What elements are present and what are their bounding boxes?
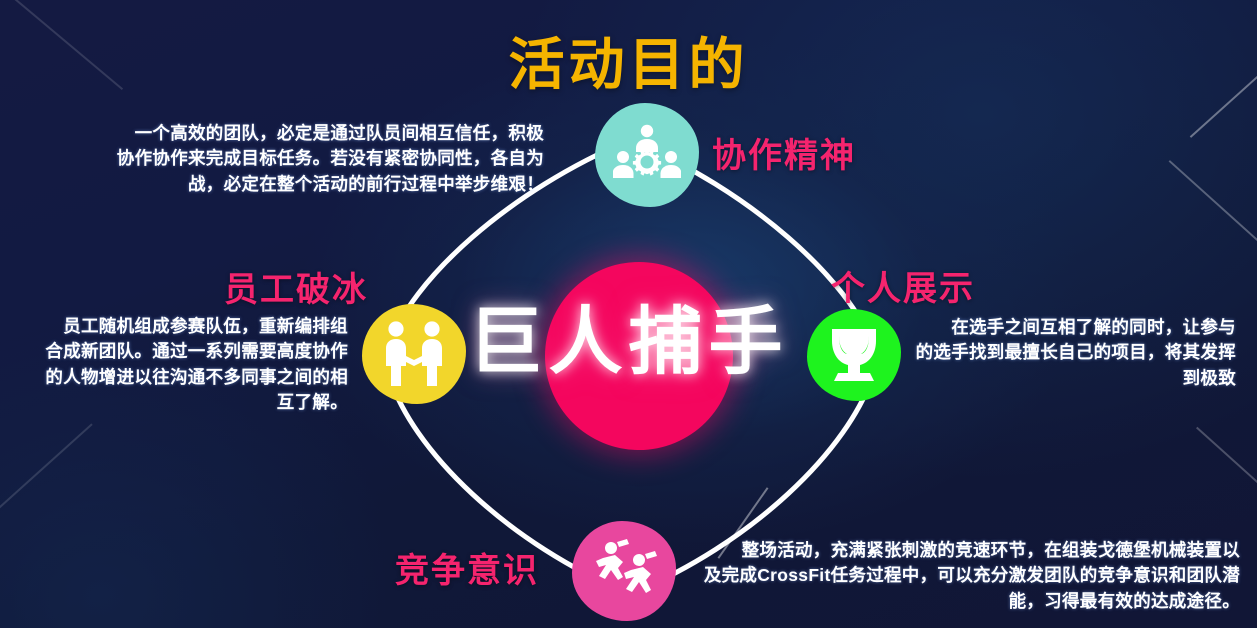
node-text-top: 一个高效的团队，必定是通过队员间相互信任，积极协作协作来完成目标任务。若没有紧密… xyxy=(82,121,544,197)
decorative-slash-mid-right xyxy=(1169,160,1257,262)
decorative-slash-bottom-left xyxy=(0,423,93,518)
node-icon-bottom[interactable] xyxy=(572,521,676,621)
node-icon-right[interactable] xyxy=(807,309,901,401)
people-gear-icon xyxy=(613,124,681,186)
node-label-left: 员工破冰 xyxy=(224,262,368,311)
slide-canvas: 活动目的 巨人捕手 协作精神 一个高效的团队，必定是通过队员间相互信任，积极协作… xyxy=(0,0,1257,628)
node-label-bottom: 竞争意识 xyxy=(395,543,539,592)
node-text-bottom: 整场活动，充满紧张刺激的竞速环节，在组装戈德堡机械装置以及完成CrossFit任… xyxy=(692,538,1240,614)
decorative-slash-bottom-right xyxy=(1196,427,1257,515)
trophy-icon xyxy=(826,326,882,384)
handshake-people-icon xyxy=(378,320,450,388)
node-text-left: 员工随机组成参赛队伍，重新编排组合成新团队。通过一系列需要高度协作的人物增进以往… xyxy=(28,314,348,416)
node-icon-top[interactable] xyxy=(595,103,699,207)
node-icon-left[interactable] xyxy=(362,304,466,404)
page-title: 活动目的 xyxy=(0,20,1257,101)
node-label-right: 个人展示 xyxy=(831,261,975,310)
node-label-top: 协作精神 xyxy=(712,128,856,177)
runners-icon xyxy=(587,538,661,604)
node-text-right: 在选手之间互相了解的同时，让参与的选手找到最擅长自己的项目，将其发挥到极致 xyxy=(906,315,1236,391)
